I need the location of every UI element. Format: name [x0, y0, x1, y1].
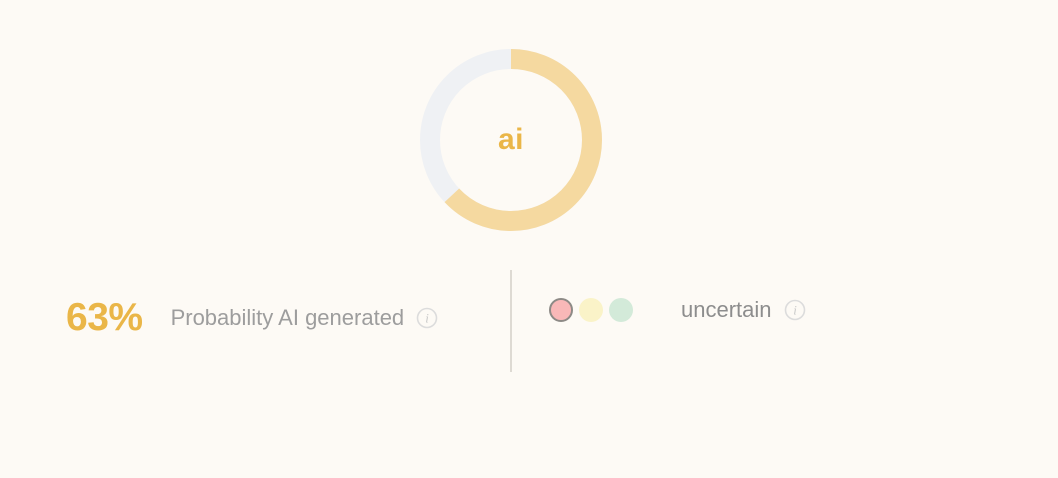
confidence-info-icon[interactable]: i — [784, 299, 806, 321]
probability-caption: Probability AI generated — [171, 307, 405, 329]
section-divider — [510, 270, 512, 372]
probability-info-icon[interactable]: i — [416, 307, 438, 329]
confidence-dots — [549, 298, 633, 322]
probability-gauge: ai — [420, 49, 602, 231]
confidence-dot-medium[interactable] — [579, 298, 603, 322]
gauge-center-label: ai — [420, 49, 602, 231]
svg-text:i: i — [793, 303, 797, 318]
confidence-dot-low[interactable] — [549, 298, 573, 322]
confidence-caption: uncertain — [681, 299, 772, 321]
confidence-block: uncertain i — [549, 298, 806, 322]
ai-detection-widget: ai 63% Probability AI generated i uncert… — [0, 0, 1058, 478]
probability-block: 63% Probability AI generated i — [66, 298, 438, 337]
probability-value: 63% — [66, 298, 143, 337]
svg-text:i: i — [425, 310, 429, 325]
readout-row: 63% Probability AI generated i uncertain… — [0, 262, 1058, 382]
confidence-dot-high[interactable] — [609, 298, 633, 322]
